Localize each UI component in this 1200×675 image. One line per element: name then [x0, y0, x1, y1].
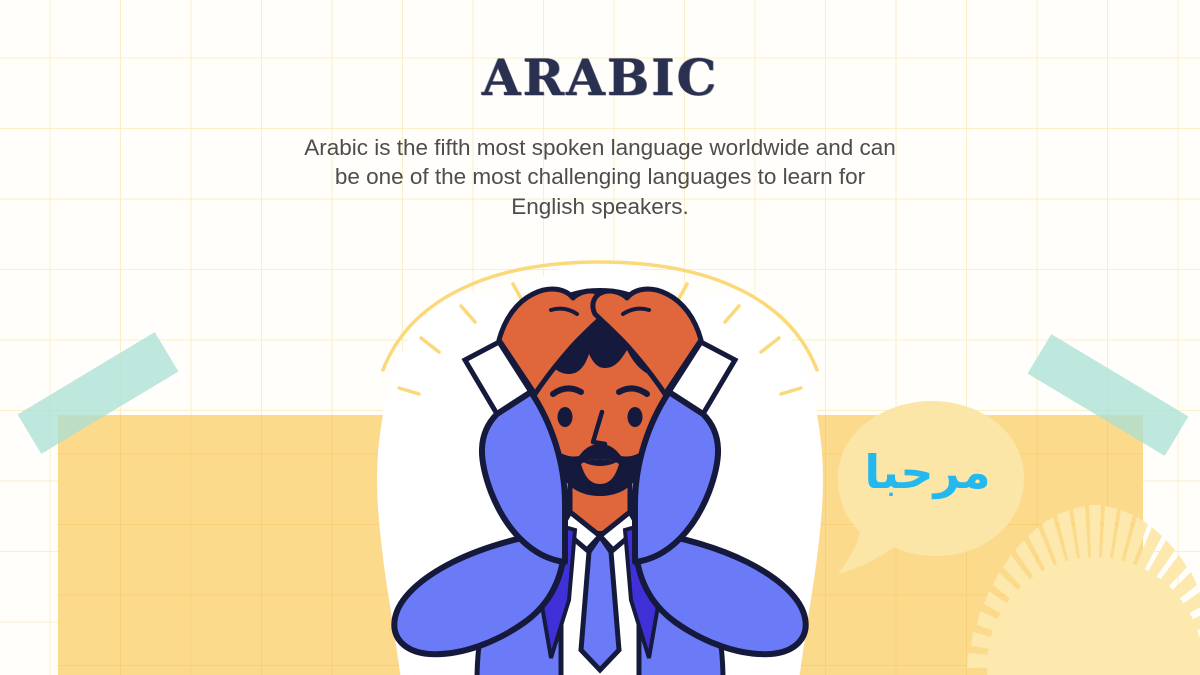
left-eye	[558, 407, 573, 427]
slide-canvas: مرحبا	[0, 0, 1200, 675]
page-title: ARABIC	[0, 48, 1200, 107]
speech-bubble-text: مرحبا	[855, 440, 1000, 505]
subtitle-text: Arabic is the fifth most spoken language…	[295, 133, 905, 221]
character-illustration	[365, 240, 835, 675]
right-eye	[628, 407, 643, 427]
